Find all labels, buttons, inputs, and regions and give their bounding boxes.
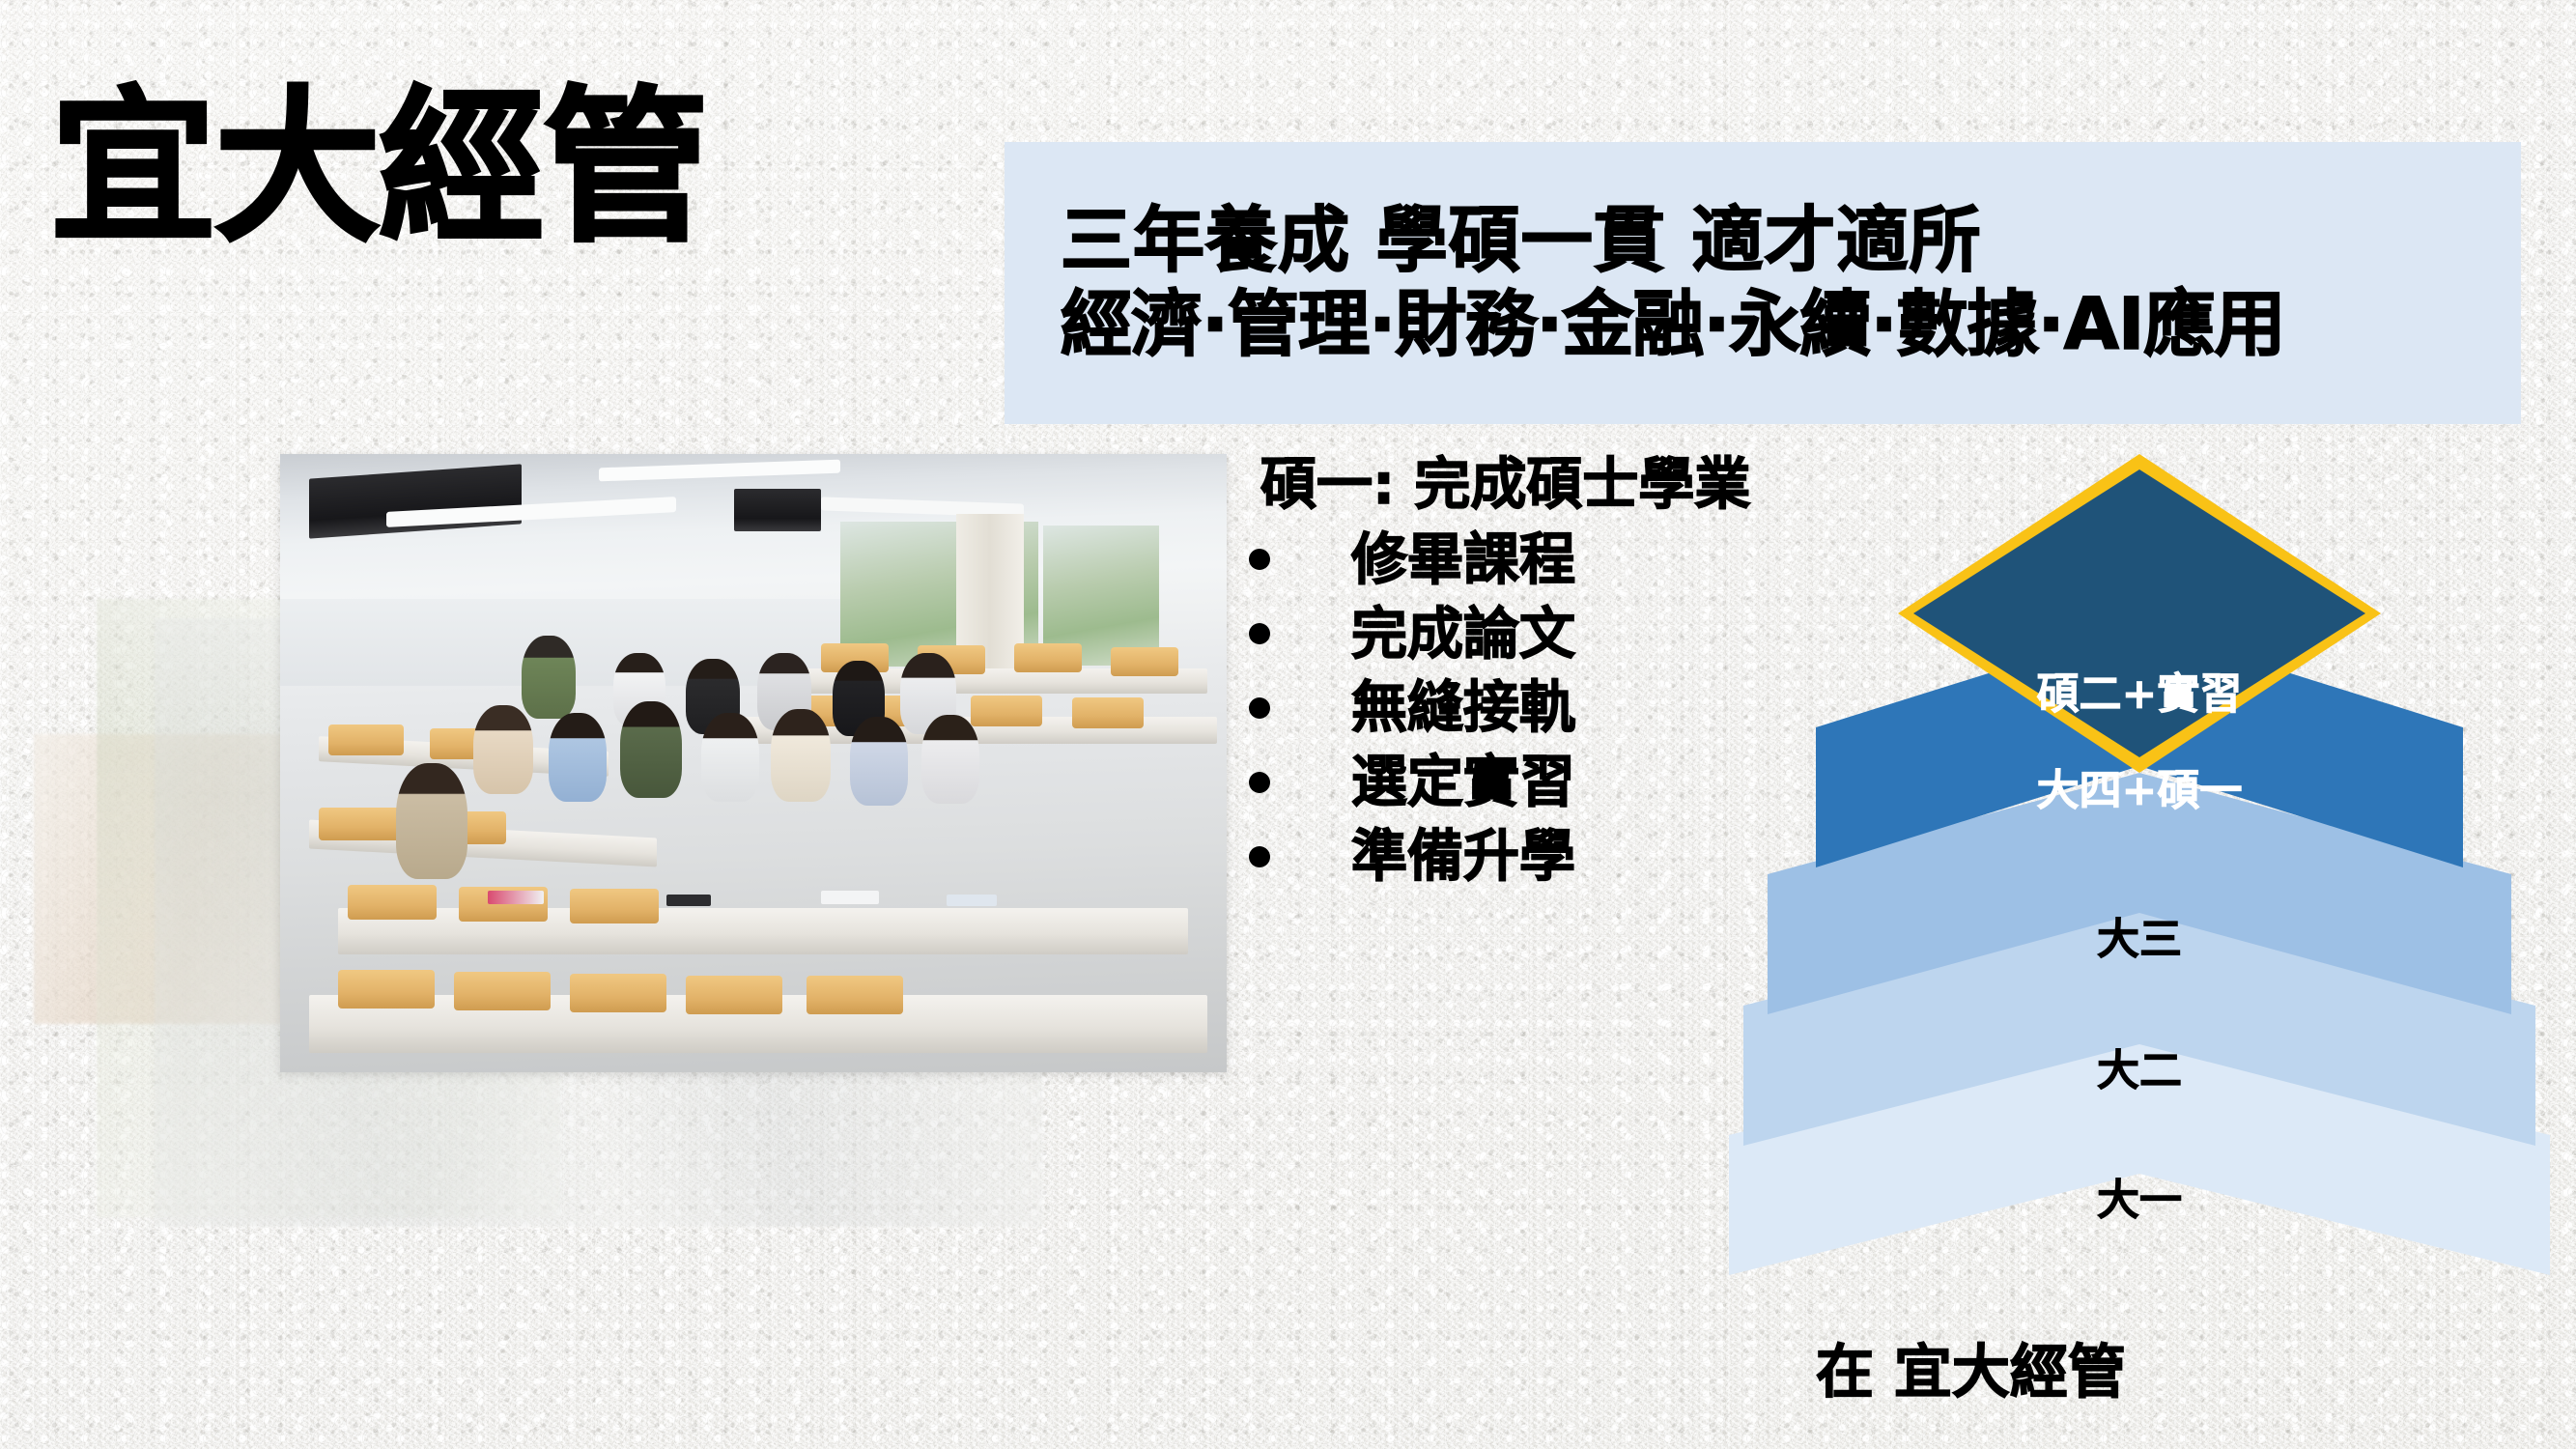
list-item-label: 完成論文 [1351, 605, 1575, 664]
progression-pyramid: 大一 大二 大三 大四+碩一 碩二+實習 [1729, 454, 2550, 1362]
pyramid-footer-text: 在 宜大經管 [1816, 1325, 2126, 1409]
list-item-label: 選定實習 [1351, 753, 1575, 811]
pyramid-layer-label: 碩二+實習 [1898, 659, 2381, 721]
list-item-label: 無縫接軌 [1351, 678, 1575, 737]
bullet-dot-icon [1249, 697, 1270, 719]
bullet-dot-icon [1249, 846, 1270, 867]
pyramid-layer-masters2-internship: 碩二+實習 [1898, 454, 2381, 773]
list-item-label: 準備升學 [1351, 827, 1575, 886]
pyramid-layer-label: 大二 [1743, 1036, 2535, 1097]
bullet-dot-icon [1249, 549, 1270, 570]
headline-line-2: 經濟·管理·財務·金融·永續·數據·AI應用 [1061, 283, 2521, 367]
classroom-group-photo [280, 454, 1227, 1072]
page-title: 宜大經管 [50, 85, 707, 251]
pyramid-layer-label: 大三 [1768, 904, 2511, 966]
bullet-dot-icon [1249, 623, 1270, 644]
bullet-dot-icon [1249, 772, 1270, 793]
headline-line-1: 三年養成 學碩一貫 適才適所 [1061, 199, 2521, 283]
slide-canvas: 宜大經管 三年養成 學碩一貫 適才適所 經濟·管理·財務·金融·永續·數據·AI… [0, 0, 2576, 1449]
headline-box: 三年養成 學碩一貫 適才適所 經濟·管理·財務·金融·永續·數據·AI應用 [1005, 142, 2521, 424]
pyramid-layer-label: 大一 [1729, 1165, 2550, 1227]
list-item-label: 修畢課程 [1351, 530, 1575, 589]
